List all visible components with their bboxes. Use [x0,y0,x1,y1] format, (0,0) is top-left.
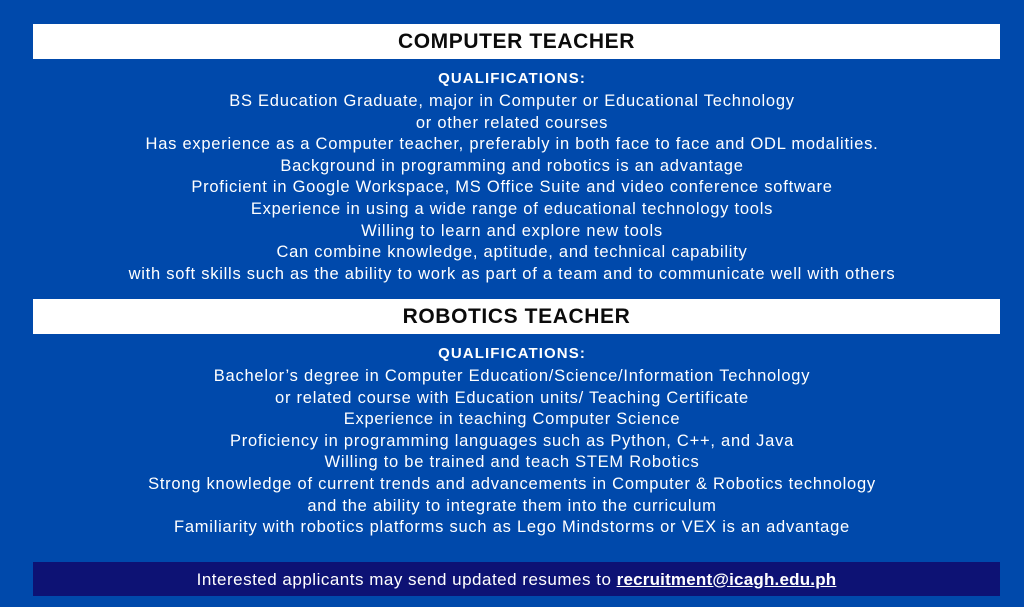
qualification-item: Proficient in Google Workspace, MS Offic… [0,177,1024,199]
job-title-banner-robotics-teacher: ROBOTICS TEACHER [33,299,1000,334]
job-title-computer-teacher: COMPUTER TEACHER [398,31,635,52]
qualification-item: Experience in teaching Computer Science [0,409,1024,431]
qualification-item: Can combine knowledge, aptitude, and tec… [0,242,1024,264]
qualifications-heading-robotics-teacher: QUALIFICATIONS: [0,343,1024,364]
qualification-item: Strong knowledge of current trends and a… [0,474,1024,496]
recruitment-email-link[interactable]: recruitment@icagh.edu.ph [617,570,837,589]
qualification-item: Familiarity with robotics platforms such… [0,517,1024,539]
qualification-item: Experience in using a wide range of educ… [0,199,1024,221]
qualification-item: Bachelor’s degree in Computer Education/… [0,366,1024,388]
qualifications-heading-computer-teacher: QUALIFICATIONS: [0,68,1024,89]
job-posting-poster: COMPUTER TEACHER QUALIFICATIONS: BS Educ… [0,0,1024,607]
qualification-item: or related course with Education units/ … [0,388,1024,410]
qualification-item: Background in programming and robotics i… [0,156,1024,178]
qualification-item: Willing to be trained and teach STEM Rob… [0,452,1024,474]
contact-footer-bar: Interested applicants may send updated r… [33,562,1000,596]
job-title-banner-computer-teacher: COMPUTER TEACHER [33,24,1000,59]
contact-instruction: Interested applicants may send updated r… [197,571,837,588]
qualification-item: Has experience as a Computer teacher, pr… [0,134,1024,156]
qualifications-section-robotics-teacher: QUALIFICATIONS: Bachelor’s degree in Com… [0,343,1024,539]
qualifications-list-computer-teacher: BS Education Graduate, major in Computer… [0,91,1024,285]
contact-instruction-text: Interested applicants may send updated r… [197,570,617,589]
qualification-item: with soft skills such as the ability to … [0,264,1024,286]
job-title-robotics-teacher: ROBOTICS TEACHER [403,306,631,327]
qualification-item: Willing to learn and explore new tools [0,221,1024,243]
qualifications-list-robotics-teacher: Bachelor’s degree in Computer Education/… [0,366,1024,539]
qualification-item: or other related courses [0,113,1024,135]
qualifications-section-computer-teacher: QUALIFICATIONS: BS Education Graduate, m… [0,68,1024,285]
qualification-item: Proficiency in programming languages suc… [0,431,1024,453]
qualification-item: BS Education Graduate, major in Computer… [0,91,1024,113]
qualification-item: and the ability to integrate them into t… [0,496,1024,518]
